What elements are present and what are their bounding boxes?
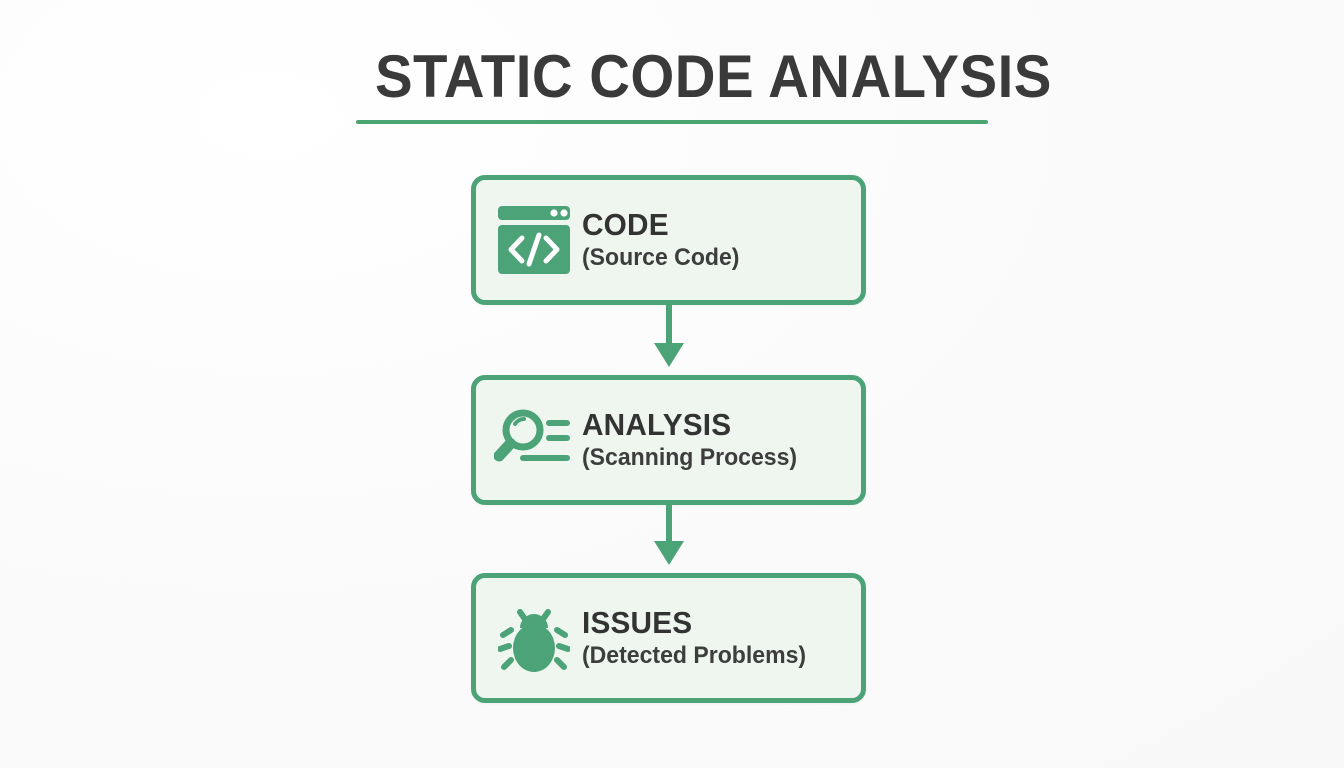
flow-node-issues-subtitle: (Detected Problems) [582, 642, 806, 670]
magnifier-scan-icon [476, 380, 580, 500]
flow-node-issues-title: ISSUES [582, 606, 806, 640]
flow-node-code-subtitle: (Source Code) [582, 244, 739, 272]
title-underline-rule [356, 120, 988, 124]
arrow-down-icon-code-to-analysis [653, 305, 685, 375]
page-title-block: STATIC CODE ANALYSIS [356, 44, 988, 124]
flow-node-analysis[interactable]: ANALYSIS (Scanning Process) [471, 375, 866, 505]
flow-node-analysis-title: ANALYSIS [582, 408, 797, 442]
flow-node-issues[interactable]: ISSUES (Detected Problems) [471, 573, 866, 703]
page-title: STATIC CODE ANALYSIS [375, 44, 969, 110]
bug-icon [476, 578, 580, 698]
flow-node-code-labels: CODE (Source Code) [580, 208, 746, 272]
flow-node-analysis-labels: ANALYSIS (Scanning Process) [580, 408, 806, 472]
flow-node-analysis-subtitle: (Scanning Process) [582, 444, 797, 472]
flow-node-code[interactable]: CODE (Source Code) [471, 175, 866, 305]
flow-node-code-title: CODE [582, 208, 739, 242]
arrow-down-icon-analysis-to-issues [653, 505, 685, 573]
code-window-icon [476, 180, 580, 300]
diagram-canvas: STATIC CODE ANALYSIS CODE (Source Code) [0, 0, 1344, 768]
flow-node-issues-labels: ISSUES (Detected Problems) [580, 606, 815, 670]
